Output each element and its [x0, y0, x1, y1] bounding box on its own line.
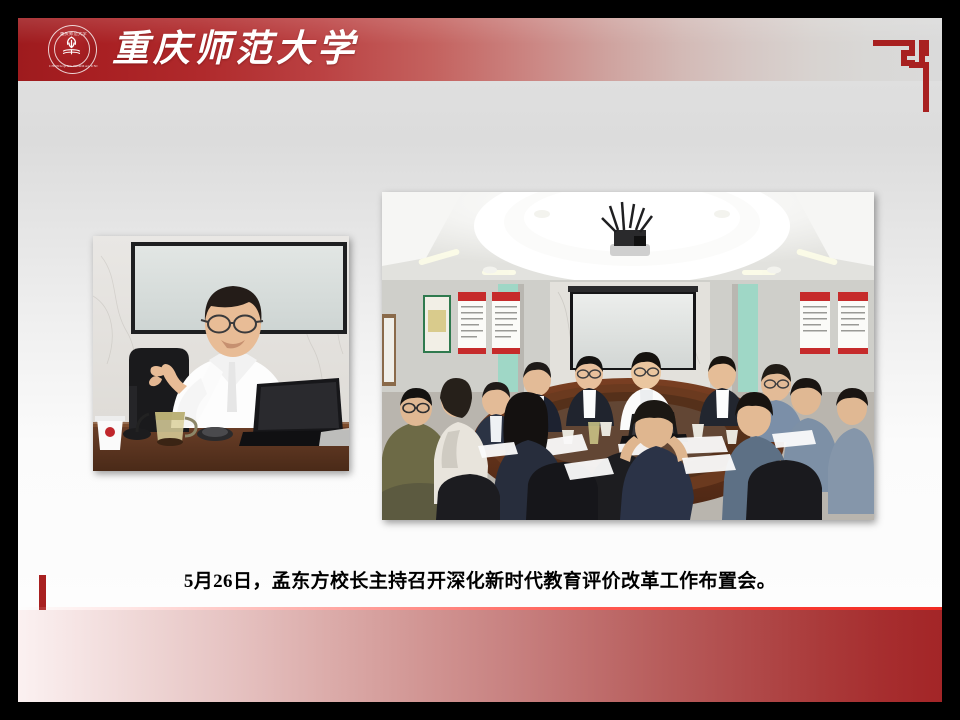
meeting-photo-room[interactable] — [382, 192, 874, 520]
meeting-photo-speaker-image — [93, 236, 349, 471]
university-seal-icon: 重庆师范大学 CHONGQING NORMAL UN — [48, 25, 97, 74]
university-name-title: 重庆师范大学 — [112, 27, 358, 73]
corner-bracket-top-right-glyph — [861, 36, 935, 114]
meeting-photo-room-image — [382, 192, 874, 520]
slide-canvas: 重庆师范大学 CHONGQING NORMAL UN — [18, 18, 942, 702]
meeting-photo-speaker[interactable] — [93, 236, 349, 471]
slide-footer-band — [18, 610, 942, 702]
slide-header-band: 重庆师范大学 CHONGQING NORMAL UN — [18, 18, 942, 81]
slide-outer-frame: 重庆师范大学 CHONGQING NORMAL UN — [0, 0, 960, 720]
chinese-corner-bracket-icon-top-right — [861, 36, 935, 114]
seal-bottom-text: CHONGQING NORMAL UNIVERSITY — [49, 65, 98, 68]
seal-emblem-mark — [58, 34, 85, 58]
slide-caption: 5月26日，孟东方校长主持召开深化新时代教育评价改革工作布置会。 — [18, 566, 942, 593]
